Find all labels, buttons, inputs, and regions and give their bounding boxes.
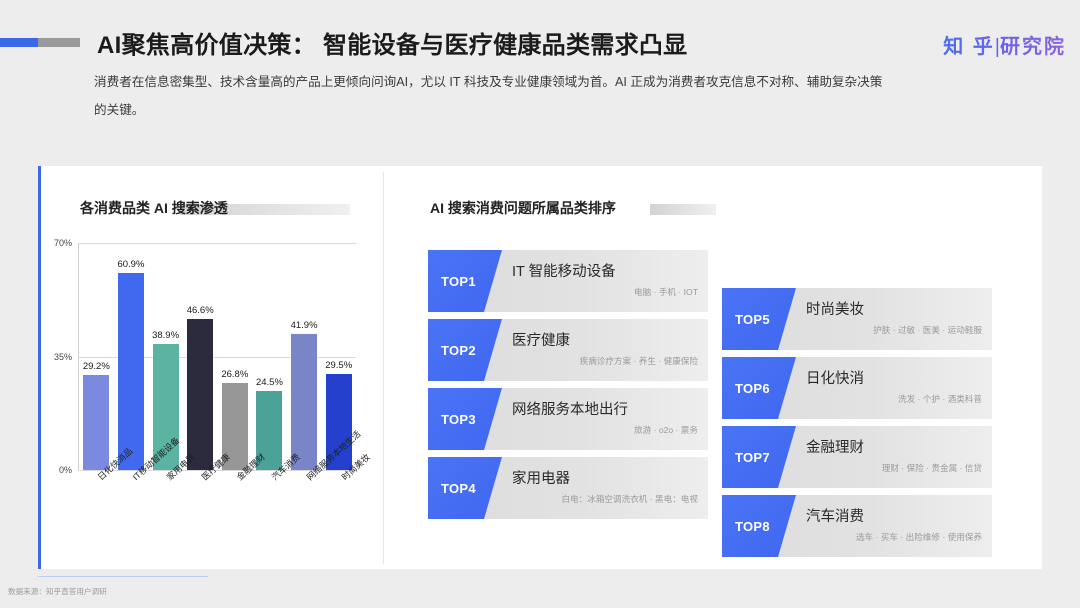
bar-value-label: 26.8%: [221, 369, 248, 380]
y-tick-label: 35%: [54, 352, 72, 362]
rank-card-body: 家用电器白电：冰箱空调洗衣机 · 黑电：电视: [512, 457, 698, 519]
rank-category-tags: 白电：冰箱空调洗衣机 · 黑电：电视: [512, 491, 698, 507]
chart-x-tick-labels: 日化快消品IT移动智能设备家用电器医疗健康金融理财汽车消费网络服务本地生活时尚美…: [78, 474, 357, 534]
bar-group: 46.6%: [187, 243, 213, 470]
rank-card[interactable]: TOP6日化快消洗发 · 个护 · 酒类科普: [722, 357, 992, 419]
page-subtitle: 消费者在信息密集型、技术含量高的产品上更倾向问询AI，尤以 IT 科技及专业健康…: [94, 68, 884, 124]
bar-value-label: 24.5%: [256, 377, 283, 388]
rank-card[interactable]: TOP2医疗健康疾病诊疗方案 · 养生 · 健康保险: [428, 319, 708, 381]
rank-category-tags: 护肤 · 过敏 · 医美 · 运动鞋服: [806, 322, 982, 338]
rank-card-body: 网络服务本地出行旅游 · o2o · 票务: [512, 388, 698, 450]
rank-category-name: 网络服务本地出行: [512, 400, 698, 420]
rank-card[interactable]: TOP1IT 智能移动设备电脑 · 手机 · IOT: [428, 250, 708, 312]
chart-bars: 29.2%60.9%38.9%46.6%26.8%24.5%41.9%29.5%: [79, 243, 356, 470]
bar-group: 24.5%: [256, 243, 282, 470]
rank-column-right: TOP5时尚美妆护肤 · 过敏 · 医美 · 运动鞋服TOP6日化快消洗发 · …: [722, 288, 992, 564]
bar-group: 41.9%: [291, 243, 317, 470]
header-accent-bars: [0, 38, 80, 47]
rank-badge: TOP8: [722, 495, 806, 557]
bar-rect[interactable]: [83, 375, 109, 470]
bar-group: 29.2%: [83, 243, 109, 470]
rank-category-name: 日化快消: [806, 369, 982, 389]
y-tick-label: 0%: [59, 465, 72, 475]
rank-badge: TOP2: [428, 319, 512, 381]
rank-category-tags: 疾病诊疗方案 · 养生 · 健康保险: [512, 353, 698, 369]
rank-category-tags: 电脑 · 手机 · IOT: [512, 284, 698, 300]
rank-card-body: 日化快消洗发 · 个护 · 酒类科普: [806, 357, 982, 419]
accent-bar-blue: [0, 38, 38, 47]
rank-category-name: 家用电器: [512, 469, 698, 489]
rank-category-tags: 旅游 · o2o · 票务: [512, 422, 698, 438]
bar-value-label: 46.6%: [187, 305, 214, 316]
bar-value-label: 41.9%: [291, 320, 318, 331]
rank-panel-title: AI 搜索消费问题所属品类排序: [430, 198, 616, 218]
bar-group: 26.8%: [222, 243, 248, 470]
bar-value-label: 60.9%: [117, 259, 144, 270]
brand-text-secondary: 研究院: [1000, 36, 1066, 58]
zhihu-research-logo: 知 乎|研究院: [943, 30, 1066, 59]
chart-title: 各消费品类 AI 搜索渗透: [80, 198, 228, 218]
page-header: AI聚焦高价值决策： 智能设备与医疗健康品类需求凸显 消费者在信息密集型、技术含…: [0, 0, 1080, 140]
rank-card-body: 金融理财理财 · 保险 · 贵金属 · 信贷: [806, 426, 982, 488]
rank-card[interactable]: TOP7金融理财理财 · 保险 · 贵金属 · 信贷: [722, 426, 992, 488]
rank-category-name: 汽车消费: [806, 507, 982, 527]
rank-card[interactable]: TOP8汽车消费选车 · 买车 · 出险维修 · 使用保养: [722, 495, 992, 557]
rank-card[interactable]: TOP3网络服务本地出行旅游 · o2o · 票务: [428, 388, 708, 450]
bar-group: 60.9%: [118, 243, 144, 470]
rank-column-left: TOP1IT 智能移动设备电脑 · 手机 · IOTTOP2医疗健康疾病诊疗方案…: [428, 250, 708, 526]
rank-badge: TOP4: [428, 457, 512, 519]
rank-category-tags: 理财 · 保险 · 贵金属 · 信贷: [806, 460, 982, 476]
rank-card-body: IT 智能移动设备电脑 · 手机 · IOT: [512, 250, 698, 312]
rank-card-body: 汽车消费选车 · 买车 · 出险维修 · 使用保养: [806, 495, 982, 557]
rank-title-highlight: [650, 204, 716, 215]
rank-category-tags: 选车 · 买车 · 出险维修 · 使用保养: [806, 529, 982, 545]
bar-rect[interactable]: [187, 319, 213, 470]
bar-rect[interactable]: [291, 334, 317, 470]
footer-rule: [38, 576, 208, 577]
rank-card-body: 医疗健康疾病诊疗方案 · 养生 · 健康保险: [512, 319, 698, 381]
rank-badge: TOP7: [722, 426, 806, 488]
rank-category-name: 医疗健康: [512, 331, 698, 351]
bar-value-label: 29.5%: [325, 360, 352, 371]
bar-value-label: 29.2%: [83, 361, 110, 372]
y-tick-label: 70%: [54, 238, 72, 248]
rank-category-name: 金融理财: [806, 438, 982, 458]
rank-card[interactable]: TOP5时尚美妆护肤 · 过敏 · 医美 · 运动鞋服: [722, 288, 992, 350]
bar-chart-plot: 0%35%70% 29.2%60.9%38.9%46.6%26.8%24.5%4…: [78, 243, 356, 470]
rank-category-name: 时尚美妆: [806, 300, 982, 320]
page-title: AI聚焦高价值决策： 智能设备与医疗健康品类需求凸显: [97, 25, 687, 60]
bar-value-label: 38.9%: [152, 330, 179, 341]
footer-source-note: 数据来源：知乎直答用户调研: [8, 586, 107, 597]
rank-badge: TOP6: [722, 357, 806, 419]
rank-category-name: IT 智能移动设备: [512, 262, 698, 282]
accent-bar-gray: [38, 38, 80, 47]
rank-category-tags: 洗发 · 个护 · 酒类科普: [806, 391, 982, 407]
rank-badge: TOP5: [722, 288, 806, 350]
rank-badge: TOP3: [428, 388, 512, 450]
rank-card-body: 时尚美妆护肤 · 过敏 · 医美 · 运动鞋服: [806, 288, 982, 350]
bar-rect[interactable]: [118, 273, 144, 470]
rank-badge: TOP1: [428, 250, 512, 312]
rank-card[interactable]: TOP4家用电器白电：冰箱空调洗衣机 · 黑电：电视: [428, 457, 708, 519]
brand-text-primary: 知 乎: [943, 36, 995, 58]
